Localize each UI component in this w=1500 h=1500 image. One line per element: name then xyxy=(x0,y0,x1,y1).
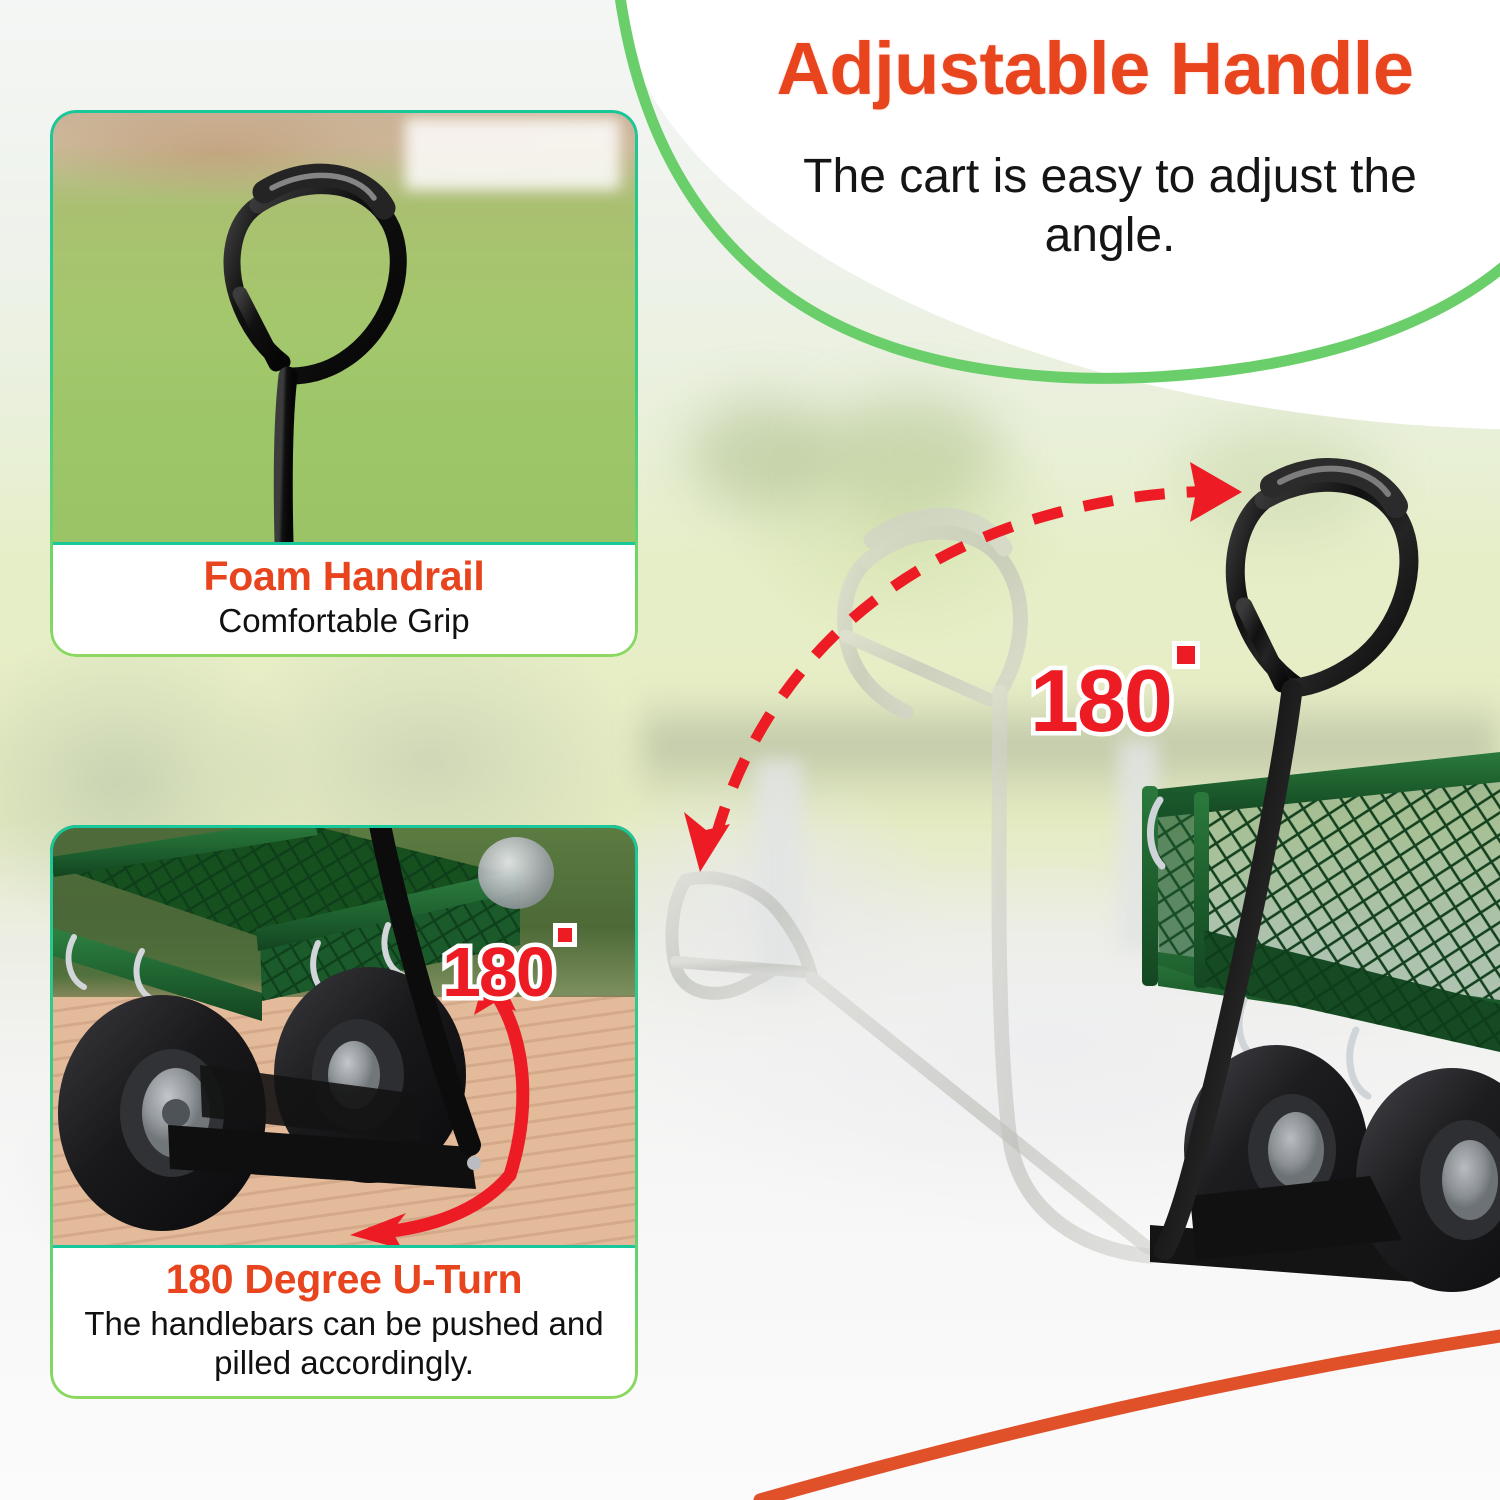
infographic-canvas: Adjustable Handle The cart is easy to ad… xyxy=(0,0,1500,1500)
feature-card-u-turn[interactable]: 180 Degree U-Turn The handlebars can be … xyxy=(50,825,638,1399)
foam-handrail-caption: Foam Handrail Comfortable Grip xyxy=(50,542,638,657)
u-turn-photo xyxy=(50,825,638,1245)
badge-180-card: 180 xyxy=(442,932,572,1012)
background-tree-blob-1 xyxy=(690,400,840,510)
feature-card-foam-handrail[interactable]: Foam Handrail Comfortable Grip xyxy=(50,110,638,657)
page-headline: Adjustable Handle xyxy=(700,32,1490,106)
background-post-right xyxy=(1118,740,1158,950)
card-title-foam-handrail: Foam Handrail xyxy=(60,553,628,600)
photo-chain-detail xyxy=(478,837,554,909)
background-post-left xyxy=(756,760,802,990)
degree-symbol-icon-card xyxy=(558,928,572,942)
background-tree-blob-2 xyxy=(820,392,1000,512)
degree-symbol-icon xyxy=(1177,646,1195,664)
card-subtitle-u-turn: The handlebars can be pushed and pilled … xyxy=(60,1305,628,1383)
u-turn-caption: 180 Degree U-Turn The handlebars can be … xyxy=(50,1245,638,1399)
card-subtitle-foam-handrail: Comfortable Grip xyxy=(60,602,628,641)
card-title-u-turn: 180 Degree U-Turn xyxy=(60,1256,628,1303)
background-tree-blob-3 xyxy=(1180,420,1380,540)
foam-handrail-photo xyxy=(50,110,638,542)
page-subline: The cart is easy to adjust the angle. xyxy=(760,148,1460,265)
badge-180-main: 180 xyxy=(1030,650,1195,752)
foam-handrail-drawing xyxy=(50,110,638,542)
